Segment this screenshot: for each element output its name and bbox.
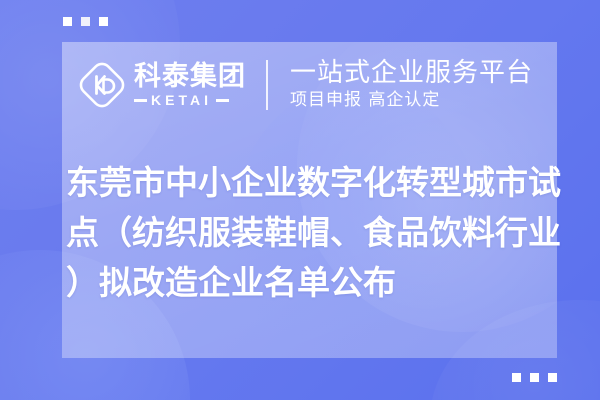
decorative-square [63, 17, 72, 26]
brand-name-cn: 科泰集团 [134, 62, 246, 92]
slogan-secondary: 项目申报 高企认定 [290, 89, 533, 112]
decorative-square [530, 373, 539, 382]
dash-right-icon [216, 99, 229, 102]
decorative-square [99, 17, 108, 26]
slogan-primary: 一站式企业服务平台 [290, 58, 533, 89]
headline-line-1: 东莞市中小企业数字化转型城市试 [66, 158, 586, 208]
brand-wordmark: 科泰集团 KETAI [134, 62, 246, 108]
banner-header: 科泰集团 KETAI 一站式企业服务平台 项目申报 高企认定 [76, 54, 533, 116]
decorative-square [81, 17, 90, 26]
decorative-squares-bottom-right [512, 373, 557, 382]
decorative-square [512, 373, 521, 382]
brand-logo[interactable]: 科泰集团 KETAI [76, 59, 246, 111]
brand-name-en: KETAI [151, 93, 212, 108]
brand-name-en-row: KETAI [134, 93, 246, 108]
decorative-squares-top-left [63, 17, 108, 26]
headline-line-2: 点（纺织服装鞋帽、食品饮料行业 [66, 208, 586, 258]
promo-banner: 科泰集团 KETAI 一站式企业服务平台 项目申报 高企认定 东莞市中小企业数字… [0, 0, 600, 400]
decorative-square [548, 373, 557, 382]
slogan-block: 一站式企业服务平台 项目申报 高企认定 [290, 58, 533, 112]
dash-left-icon [134, 99, 147, 102]
ketai-diamond-kd-logo-icon [76, 59, 128, 111]
header-divider [266, 60, 268, 110]
headline-title: 东莞市中小企业数字化转型城市试 点（纺织服装鞋帽、食品饮料行业 ）拟改造企业名单… [66, 158, 586, 308]
headline-line-3: ）拟改造企业名单公布 [66, 258, 586, 308]
